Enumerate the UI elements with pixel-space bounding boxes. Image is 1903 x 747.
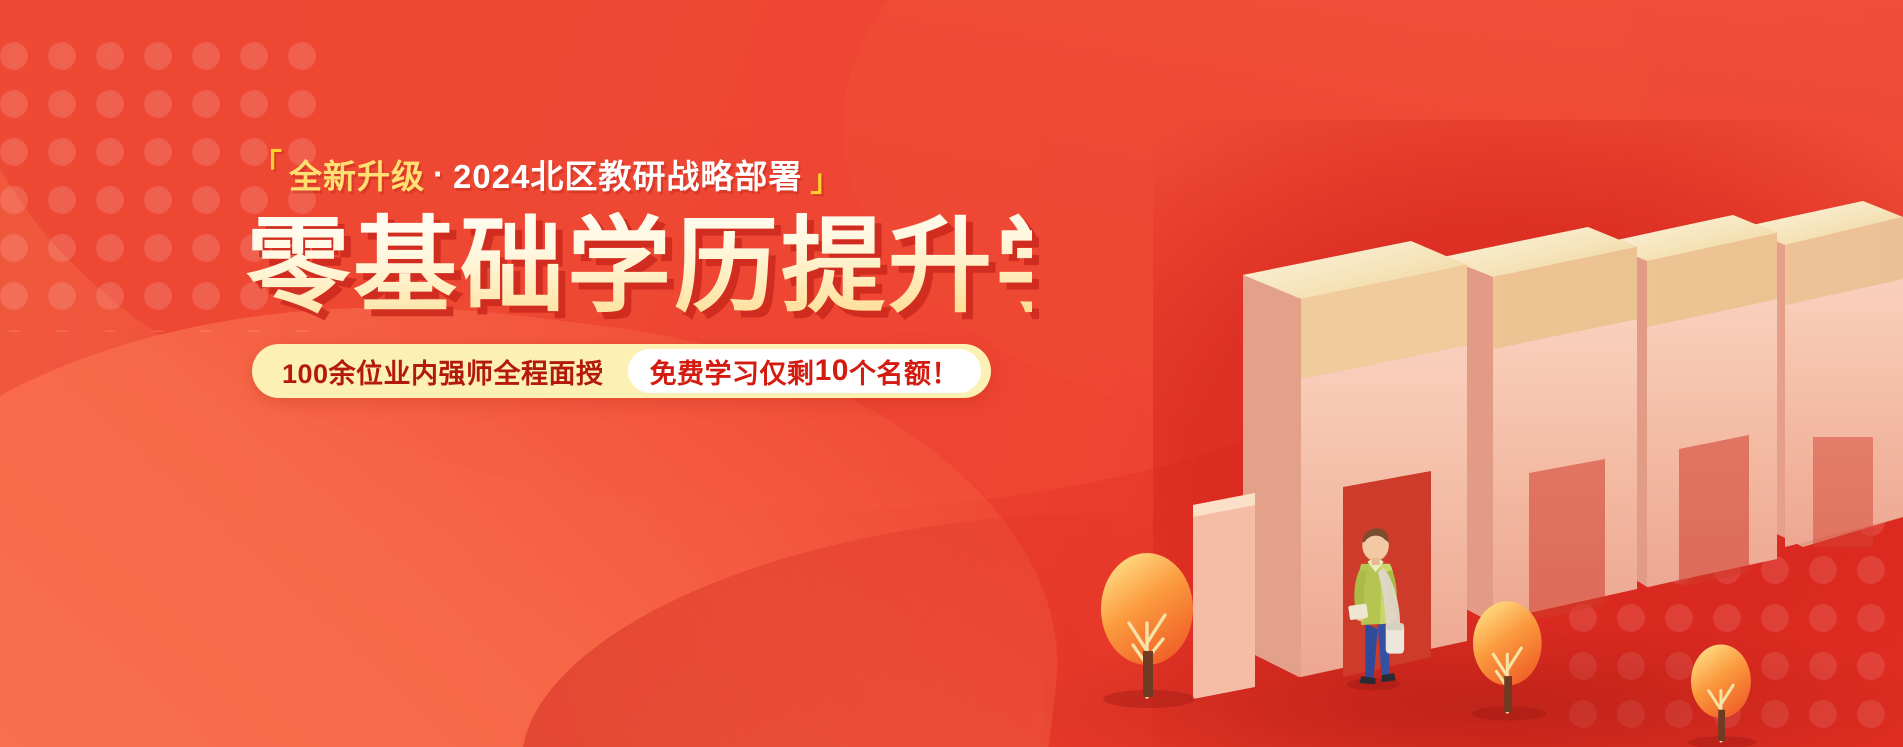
banner-title: 零基础学历提升学霸班 <box>246 212 1032 322</box>
copy-block: 「 全新升级 · 2024北区教研战略部署 」 零基础学历提升学霸班 100余位… <box>252 150 1032 398</box>
bracket-close-icon: 」 <box>810 167 841 197</box>
remaining-slots-chip[interactable]: 免费学习仅剩10个名额！ <box>628 349 981 393</box>
pill-left-text: 100余位业内强师全程面授 <box>282 352 628 391</box>
promo-banner: 「 全新升级 · 2024北区教研战略部署 」 零基础学历提升学霸班 100余位… <box>0 0 1903 747</box>
highlight-pill[interactable]: 100余位业内强师全程面授 免费学习仅剩10个名额！ <box>252 344 991 398</box>
subtitle-plain: 2024北区教研战略部署 <box>453 150 802 198</box>
chip-suffix: 个名额！ <box>849 352 959 391</box>
bracket-open-icon: 「 <box>252 151 283 181</box>
side-pillar <box>1193 493 1255 699</box>
banner-subtitle: 「 全新升级 · 2024北区教研战略部署 」 <box>252 150 1032 198</box>
chip-prefix: 免费学习仅剩 <box>650 352 815 391</box>
subtitle-highlight: 全新升级 <box>289 150 425 198</box>
subtitle-separator: · <box>433 155 445 193</box>
book-arch-2 <box>1443 227 1637 621</box>
chip-number: 10 <box>815 354 849 388</box>
